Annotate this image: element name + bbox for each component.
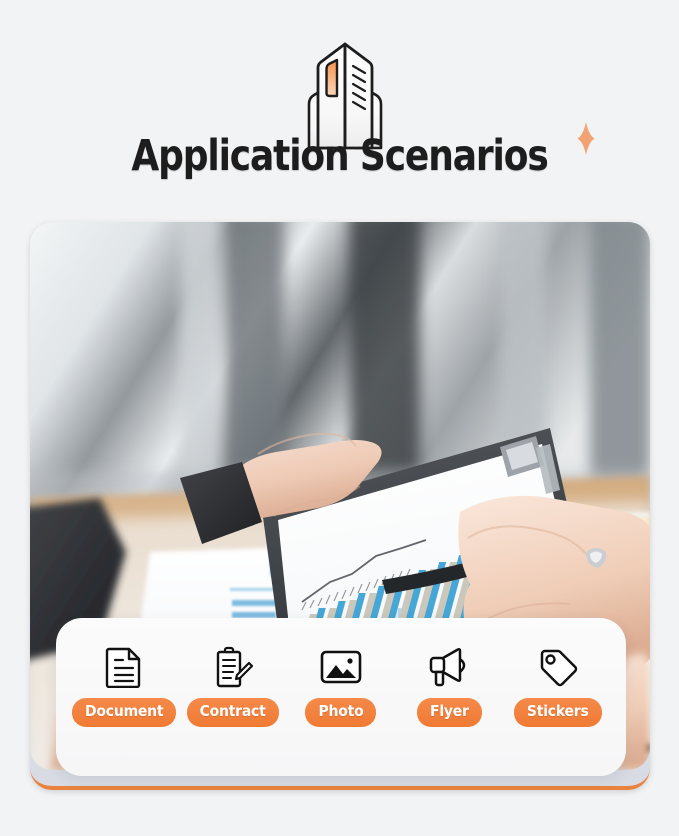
category-panel: Document Con: [56, 618, 626, 776]
hero-section: Document Con: [30, 222, 650, 790]
megaphone-icon: [427, 644, 471, 690]
tag-icon: [537, 644, 579, 690]
page-title: Application Scenarios: [24, 131, 655, 181]
category-item-stickers[interactable]: Stickers: [506, 644, 610, 727]
category-item-flyer[interactable]: Flyer: [397, 644, 501, 727]
contract-icon: [213, 644, 253, 690]
category-item-photo[interactable]: Photo: [289, 644, 393, 727]
category-badge-label: Flyer: [417, 698, 482, 727]
category-item-document[interactable]: Document: [72, 644, 176, 727]
category-badge-label: Contract: [187, 698, 279, 727]
category-item-contract[interactable]: Contract: [181, 644, 285, 727]
photo-icon: [319, 644, 363, 690]
category-badge-label: Stickers: [514, 698, 602, 727]
category-badge-label: Document: [72, 698, 176, 727]
application-scenarios-page: Application Scenarios: [0, 0, 679, 836]
page-header: Application Scenarios: [0, 0, 679, 210]
document-icon: [105, 644, 143, 690]
category-badge-label: Photo: [305, 698, 376, 727]
